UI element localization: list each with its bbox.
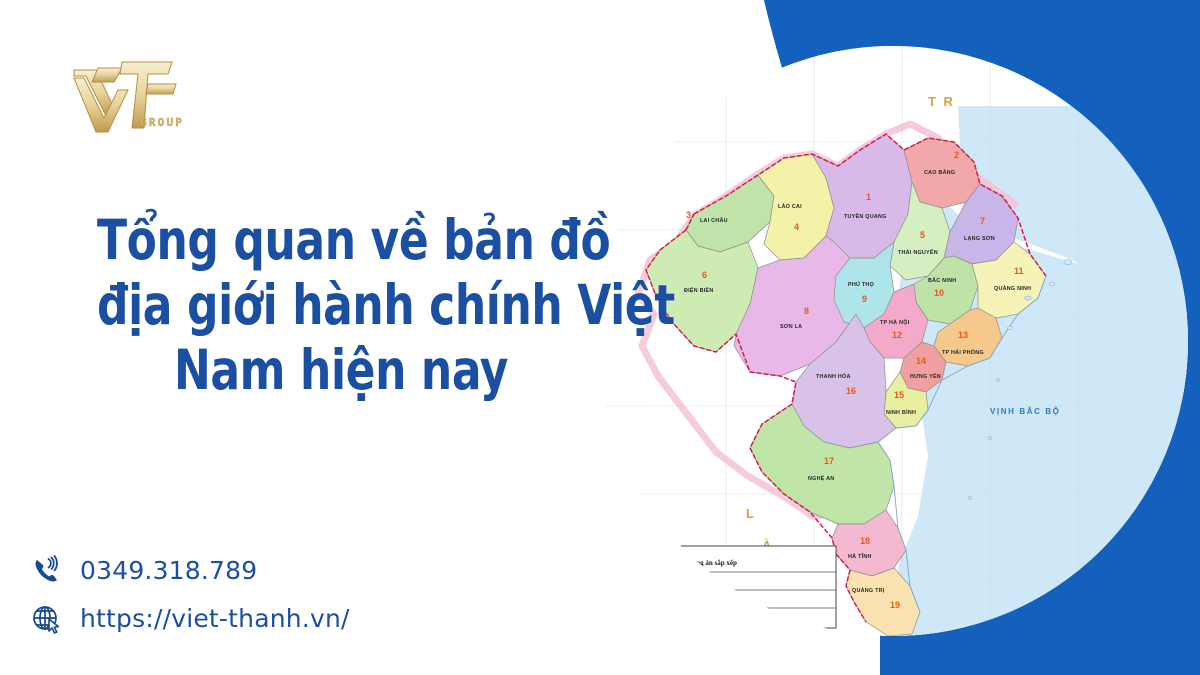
contact-phone-row[interactable]: 0349.318.789 <box>26 548 350 592</box>
province-name-16: THANH HÓA <box>816 372 851 380</box>
china-label: T R <box>928 94 955 109</box>
map-legend: Phương án sắp xếp ng - Tuyên Quang <box>646 546 836 628</box>
page-title-line-2: địa giới hành chính Việt <box>97 273 585 338</box>
province-number-9: 9 <box>862 294 867 304</box>
province-number-4: 4 <box>794 222 799 232</box>
province-name-9: PHÚ THỌ <box>848 281 874 288</box>
legend-row-1: ng - Tuyên Quang <box>682 580 722 586</box>
province-name-14: HƯNG YÊN <box>910 372 941 380</box>
contact-website-row[interactable]: https://viet-thanh.vn/ <box>26 596 350 640</box>
phone-number: 0349.318.789 <box>80 556 257 585</box>
province-number-15: 15 <box>894 390 904 400</box>
province-name-10: BẮC NINH <box>928 276 956 284</box>
globe-cursor-icon <box>26 598 66 638</box>
logo-mark-v <box>74 68 128 132</box>
slide-canvas: 3 LAI CHÂU 6 ĐIỆN BIÊN 4 LÀO CAI 8 SƠN L… <box>0 0 1200 675</box>
province-number-17: 17 <box>824 456 834 466</box>
province-name-13: TP HẢI PHÒNG <box>942 348 984 356</box>
page-title-line-3: Nam hiện nay <box>97 338 585 403</box>
map-svg: 3 LAI CHÂU 6 ĐIỆN BIÊN 4 LÀO CAI 8 SƠN L… <box>598 46 1188 636</box>
province-name-6: ĐIỆN BIÊN <box>684 286 714 294</box>
gulf-of-tonkin-label: VỊNH BẮC BỘ <box>990 407 1061 416</box>
company-logo[interactable]: GROUP <box>62 52 202 140</box>
province-name-7: LẠNG SƠN <box>964 236 995 242</box>
province-number-14: 14 <box>916 356 926 366</box>
province-number-6: 6 <box>702 270 707 280</box>
province-name-11: QUẢNG NINH <box>994 285 1031 292</box>
website-url: https://viet-thanh.vn/ <box>80 604 350 633</box>
province-number-2: 2 <box>954 150 959 160</box>
province-number-1: 1 <box>866 192 871 202</box>
laos-label-l: L <box>746 506 756 521</box>
province-name-15: NINH BÌNH <box>886 408 916 416</box>
province-name-19: QUẢNG TRỊ <box>852 587 885 594</box>
province-name-4: LÀO CAI <box>778 203 802 210</box>
province-number-7: 7 <box>980 216 985 226</box>
province-number-11: 11 <box>1014 266 1024 276</box>
page-title: Tổng quan về bản đồ địa giới hành chính … <box>97 208 585 403</box>
province-number-10: 10 <box>934 288 944 298</box>
province-name-2: CAO BẰNG <box>924 168 955 176</box>
province-name-8: SƠN LA <box>780 324 802 330</box>
province-number-16: 16 <box>846 386 856 396</box>
phone-icon <box>26 550 66 590</box>
province-number-12: 12 <box>892 330 902 340</box>
vietnam-administrative-map[interactable]: 3 LAI CHÂU 6 ĐIỆN BIÊN 4 LÀO CAI 8 SƠN L… <box>598 46 1188 636</box>
province-name-17: NGHỆ AN <box>808 474 834 482</box>
province-name-18: HÀ TĨNH <box>848 553 872 560</box>
logo-wordmark: GROUP <box>140 116 184 129</box>
province-number-8: 8 <box>804 306 809 316</box>
province-number-18: 18 <box>860 536 870 546</box>
page-title-line-1: Tổng quan về bản đồ <box>97 208 585 273</box>
logo-svg: GROUP <box>62 52 202 140</box>
province-name-5: THÁI NGUYÊN <box>898 248 938 256</box>
province-name-1: TUYÊN QUANG <box>844 212 887 220</box>
province-name-12: TP HÀ NỘI <box>880 318 910 326</box>
province-number-3: 3 <box>686 210 691 220</box>
province-name-3: LAI CHÂU <box>700 217 728 224</box>
contact-block: 0349.318.789 https://viet-thanh.vn/ <box>26 548 350 644</box>
province-number-13: 13 <box>958 330 968 340</box>
map-disc: 3 LAI CHÂU 6 ĐIỆN BIÊN 4 LÀO CAI 8 SƠN L… <box>598 46 1188 636</box>
legend-title: Phương án sắp xếp <box>680 559 737 567</box>
province-number-19: 19 <box>890 600 900 610</box>
province-number-5: 5 <box>920 230 925 240</box>
